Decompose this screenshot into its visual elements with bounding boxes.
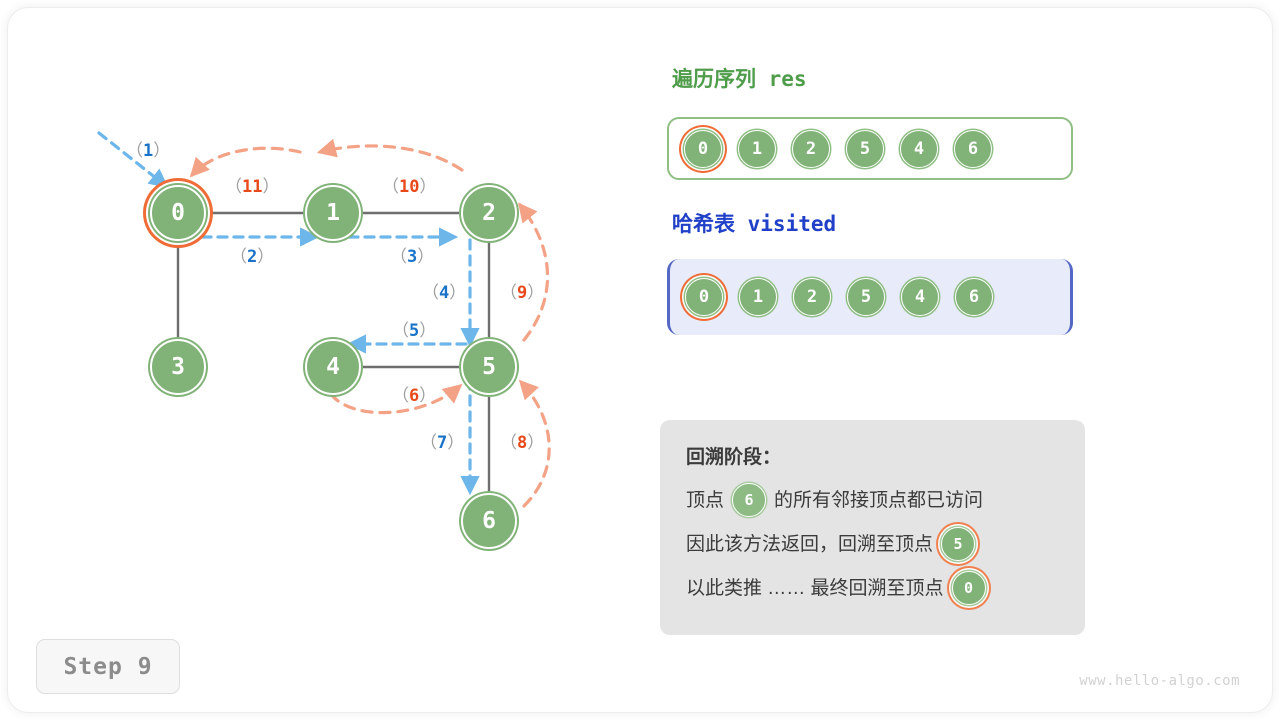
step-number: 7 xyxy=(437,433,447,453)
paren-close: ） xyxy=(527,283,544,303)
visited-title: 哈希表 visited xyxy=(672,208,836,238)
graph-node-5[interactable]: 5 xyxy=(461,339,517,395)
paren-close: ） xyxy=(449,283,466,303)
note-chip-label: 0 xyxy=(964,579,973,597)
traversal-label-6: （6） xyxy=(392,381,436,406)
graph-node-1[interactable]: 1 xyxy=(305,185,361,241)
graph-node-label: 0 xyxy=(171,200,185,226)
res-chip[interactable]: 6 xyxy=(954,130,992,168)
watermark: www.hello-algo.com xyxy=(1079,673,1240,689)
traversal-label-3: （3） xyxy=(390,242,434,267)
visited-chip-label: 4 xyxy=(915,287,925,307)
note-chip-label: 5 xyxy=(954,535,963,553)
graph-node-label: 6 xyxy=(482,508,496,534)
paren-open: （ xyxy=(420,433,437,453)
paren-open: （ xyxy=(392,386,409,406)
note-text-after: 的所有邻接顶点都已访问 xyxy=(774,491,983,510)
res-chip[interactable]: 0 xyxy=(684,130,722,168)
note-text-before: 以此类推 …… 最终回溯至顶点 xyxy=(686,579,944,598)
graph-node-6[interactable]: 6 xyxy=(461,493,517,549)
step-number: 2 xyxy=(247,247,257,267)
paren-open: （ xyxy=(422,283,439,303)
note-line: 顶点 6 的所有邻接顶点都已访问 xyxy=(686,483,1061,517)
res-chip-label: 0 xyxy=(698,139,708,159)
traversal-label-2: （2） xyxy=(230,242,274,267)
traversal-label-7: （7） xyxy=(420,428,464,453)
paren-close: ） xyxy=(257,247,274,267)
step-number: 3 xyxy=(407,247,417,267)
graph-node-label: 1 xyxy=(326,200,340,226)
visited-chip[interactable]: 0 xyxy=(685,278,723,316)
paren-close: ） xyxy=(417,247,434,267)
traversal-label-5: （5） xyxy=(392,316,436,341)
note-line: 以此类推 …… 最终回溯至顶点 0 xyxy=(686,571,1061,605)
visited-chip-label: 6 xyxy=(969,287,979,307)
graph-node-4[interactable]: 4 xyxy=(305,339,361,395)
step-number: 6 xyxy=(409,386,419,406)
paren-open: （ xyxy=(390,247,407,267)
note-chip: 0 xyxy=(952,571,986,605)
traversal-label-1: （1） xyxy=(126,136,170,161)
res-chip-label: 5 xyxy=(860,139,870,159)
traversal-label-9: （9） xyxy=(500,278,544,303)
res-title: 遍历序列 res xyxy=(672,63,807,93)
step-number: 8 xyxy=(517,433,527,453)
graph-node-label: 2 xyxy=(482,200,496,226)
paren-open: （ xyxy=(126,141,143,161)
step-number: 11 xyxy=(242,177,262,197)
paren-open: （ xyxy=(225,177,242,197)
paren-close: ） xyxy=(447,433,464,453)
paren-close: ） xyxy=(419,177,436,197)
paren-close: ） xyxy=(527,433,544,453)
graph-diagram: 0 1 2 3 4 5 6 （1） （11） （10） （2） （3） （4） … xyxy=(0,0,640,720)
visited-chip-label: 0 xyxy=(699,287,709,307)
res-chip-label: 2 xyxy=(806,139,816,159)
graph-node-2[interactable]: 2 xyxy=(461,185,517,241)
visited-chip-label: 1 xyxy=(753,287,763,307)
graph-node-3[interactable]: 3 xyxy=(150,339,206,395)
explanation-note: 回溯阶段： 顶点 6 的所有邻接顶点都已访问 因此该方法返回，回溯至顶点 5 以… xyxy=(660,420,1085,635)
graph-node-label: 5 xyxy=(482,354,496,380)
paren-open: （ xyxy=(500,283,517,303)
note-chip-label: 6 xyxy=(745,491,754,509)
traversal-label-10: （10） xyxy=(382,172,436,197)
paren-open: （ xyxy=(230,247,247,267)
res-chip-label: 4 xyxy=(914,139,924,159)
note-heading: 回溯阶段： xyxy=(686,442,1061,469)
right-panel: 遍历序列 res 0 1 2 5 4 6 哈希表 visited 0 1 2 5… xyxy=(640,0,1280,720)
visited-chip[interactable]: 2 xyxy=(793,278,831,316)
paren-open: （ xyxy=(500,433,517,453)
note-chip: 5 xyxy=(941,527,975,561)
step-number: 4 xyxy=(439,283,449,303)
res-sequence-box: 0 1 2 5 4 6 xyxy=(667,117,1073,180)
step-number: 9 xyxy=(517,283,527,303)
step-number: 5 xyxy=(409,321,419,341)
visited-chip[interactable]: 1 xyxy=(739,278,777,316)
res-chip[interactable]: 4 xyxy=(900,130,938,168)
note-chip: 6 xyxy=(732,483,766,517)
visited-chip-label: 2 xyxy=(807,287,817,307)
paren-close: ） xyxy=(153,141,170,161)
note-text-before: 因此该方法返回，回溯至顶点 xyxy=(686,535,933,554)
note-line: 因此该方法返回，回溯至顶点 5 xyxy=(686,527,1061,561)
traversal-label-8: （8） xyxy=(500,428,544,453)
traversal-label-4: （4） xyxy=(422,278,466,303)
traversal-label-11: （11） xyxy=(225,172,279,197)
step-number: 1 xyxy=(143,141,153,161)
visited-chip[interactable]: 4 xyxy=(901,278,939,316)
graph-node-label: 3 xyxy=(171,354,185,380)
visited-chip[interactable]: 6 xyxy=(955,278,993,316)
paren-close: ） xyxy=(419,386,436,406)
res-chip[interactable]: 2 xyxy=(792,130,830,168)
slide-root: 0 1 2 3 4 5 6 （1） （11） （10） （2） （3） （4） … xyxy=(0,0,1280,720)
visited-set-box: 0 1 2 5 4 6 xyxy=(667,259,1073,335)
res-chip[interactable]: 1 xyxy=(738,130,776,168)
paren-close: ） xyxy=(419,321,436,341)
paren-open: （ xyxy=(382,177,399,197)
paren-open: （ xyxy=(392,321,409,341)
note-text-before: 顶点 xyxy=(686,491,724,510)
visited-chip-label: 5 xyxy=(861,287,871,307)
res-chip-label: 1 xyxy=(752,139,762,159)
res-chip-label: 6 xyxy=(968,139,978,159)
graph-node-0[interactable]: 0 xyxy=(150,185,206,241)
graph-node-label: 4 xyxy=(326,354,340,380)
paren-close: ） xyxy=(262,177,279,197)
visited-chip[interactable]: 5 xyxy=(847,278,885,316)
res-chip[interactable]: 5 xyxy=(846,130,884,168)
step-badge: Step 9 xyxy=(36,639,180,694)
step-number: 10 xyxy=(399,177,419,197)
